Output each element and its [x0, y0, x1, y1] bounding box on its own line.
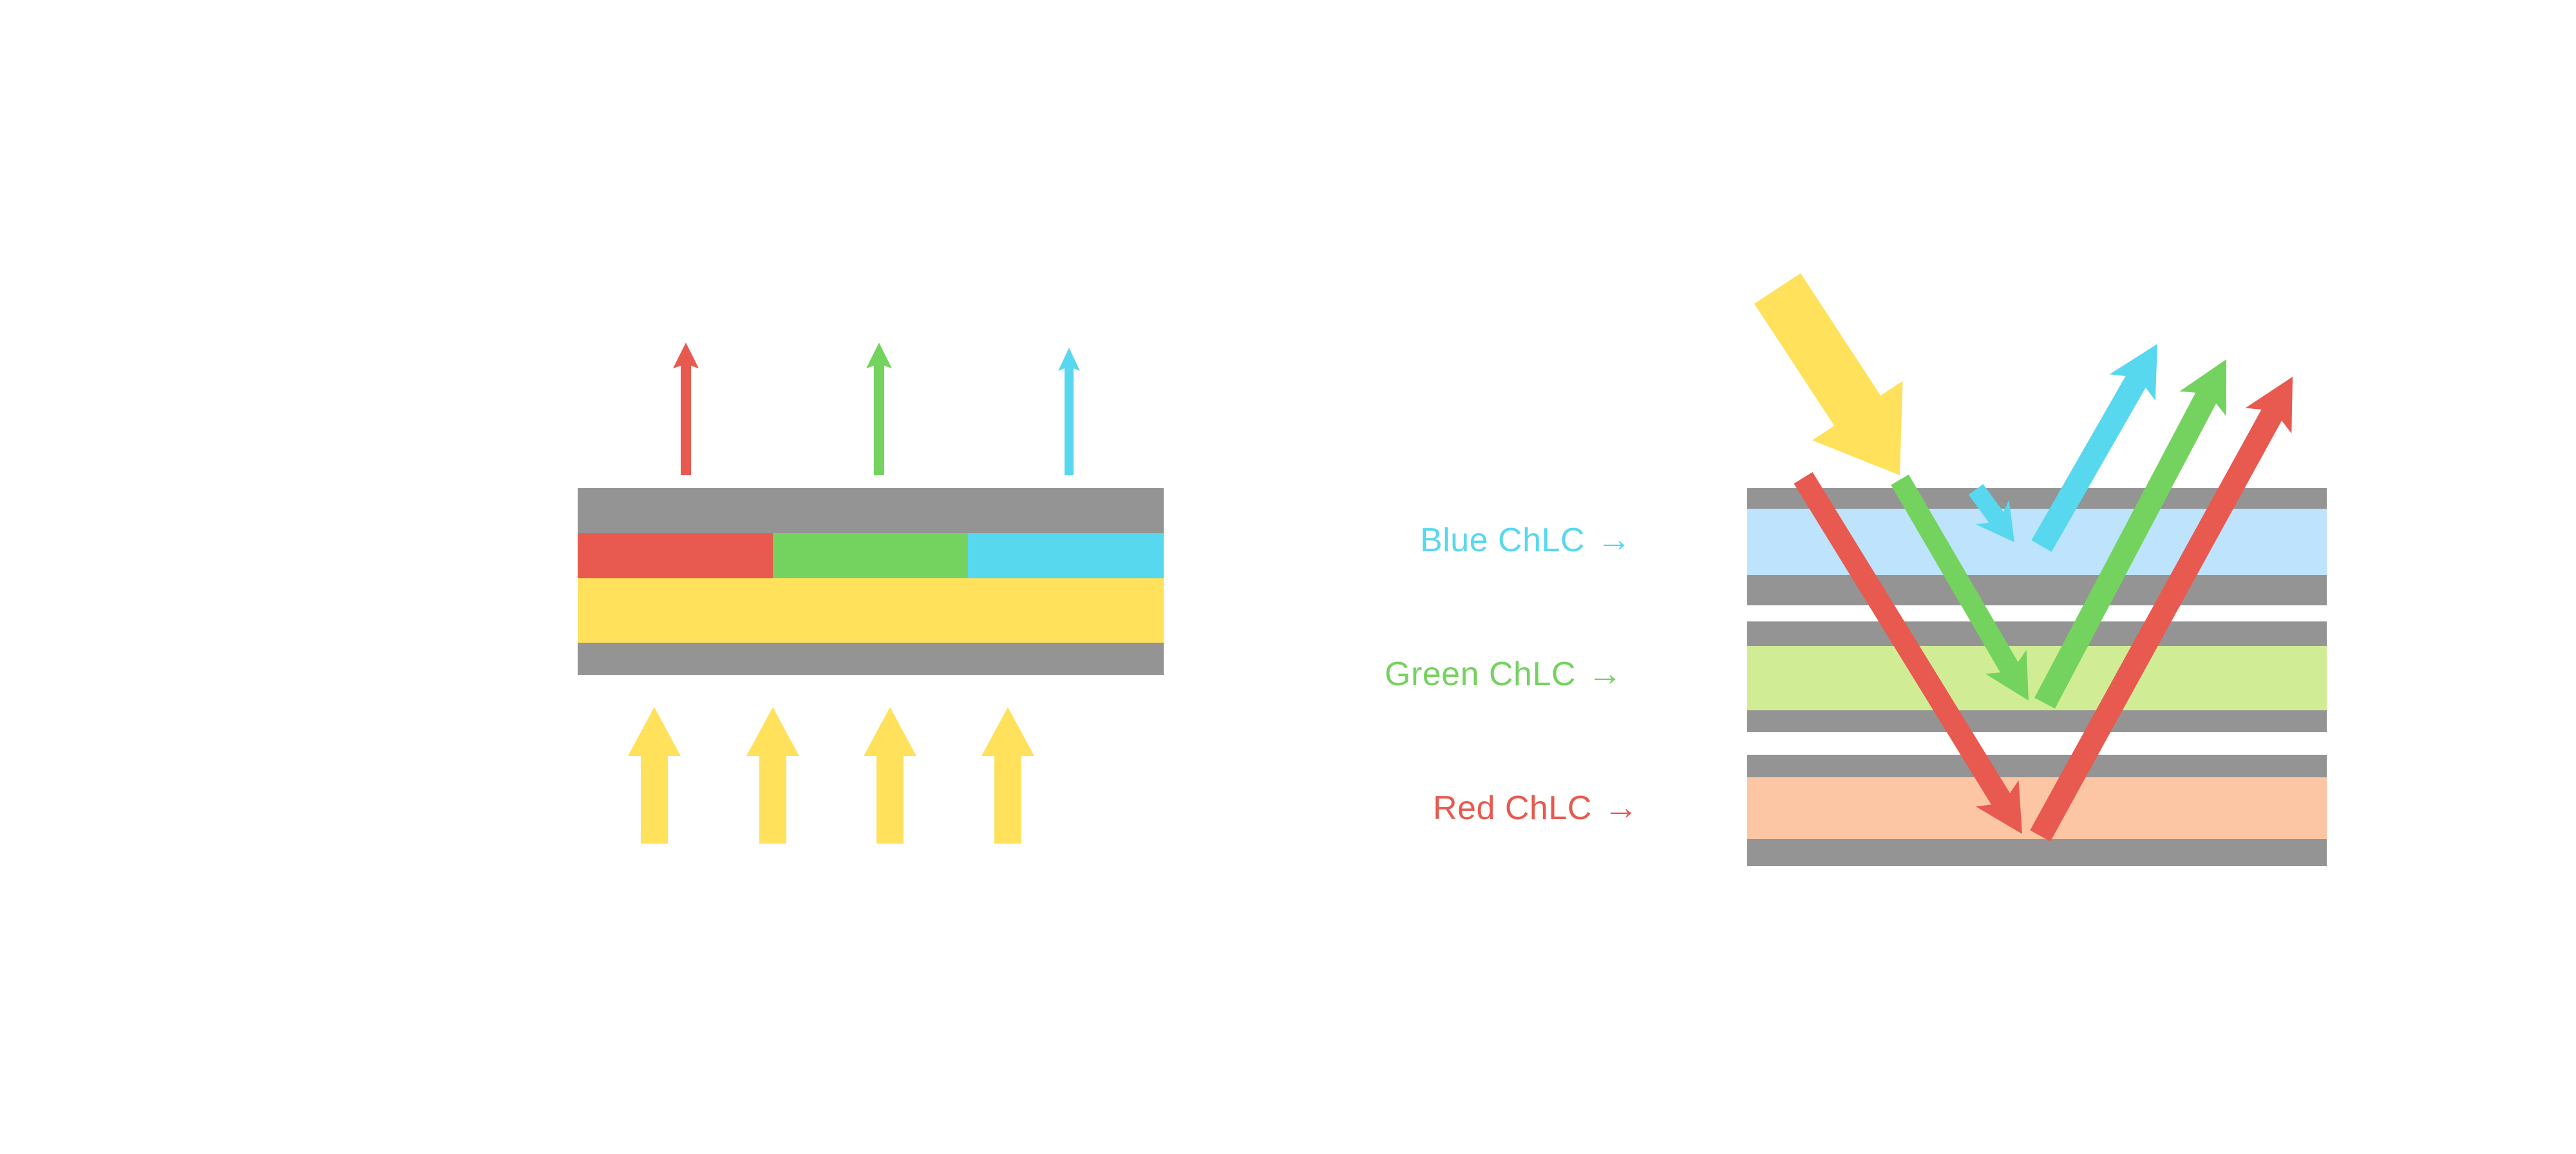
green-chlc-layer	[1747, 646, 2327, 710]
red-filter	[578, 533, 773, 578]
green-chlc-top-electrode	[1747, 621, 2327, 646]
green-filter	[773, 533, 968, 578]
left-stack-group	[578, 488, 1164, 675]
color-filter-band	[578, 533, 1164, 578]
red-chlc-label: Red ChLC→	[1433, 787, 1639, 828]
blue-chlc-bottom-electrode	[1747, 575, 2327, 605]
green-chlc-label-text: Green ChLC	[1385, 656, 1576, 693]
blue-chlc-label-arrow-icon: →	[1596, 520, 1632, 559]
cyan-filter	[968, 533, 1164, 578]
green-chlc-label-arrow-icon: →	[1587, 654, 1623, 693]
red-chlc-label-arrow-icon: →	[1604, 788, 1639, 827]
red-chlc-label-text: Red ChLC	[1433, 790, 1592, 827]
green-chlc-bottom-electrode	[1747, 710, 2327, 732]
yellow-backlight-layer	[578, 578, 1164, 643]
green-chlc-label: Green ChLC→	[1385, 653, 1623, 694]
red-chlc-bottom-electrode	[1747, 839, 2327, 866]
top-electrode-gray	[578, 488, 1164, 533]
blue-chlc-label-text: Blue ChLC	[1420, 522, 1585, 559]
blue-chlc-label: Blue ChLC→	[1420, 519, 1632, 560]
diagram-canvas	[0, 0, 2576, 1154]
red-chlc-top-electrode	[1747, 755, 2327, 777]
bottom-electrode-gray	[578, 643, 1164, 675]
